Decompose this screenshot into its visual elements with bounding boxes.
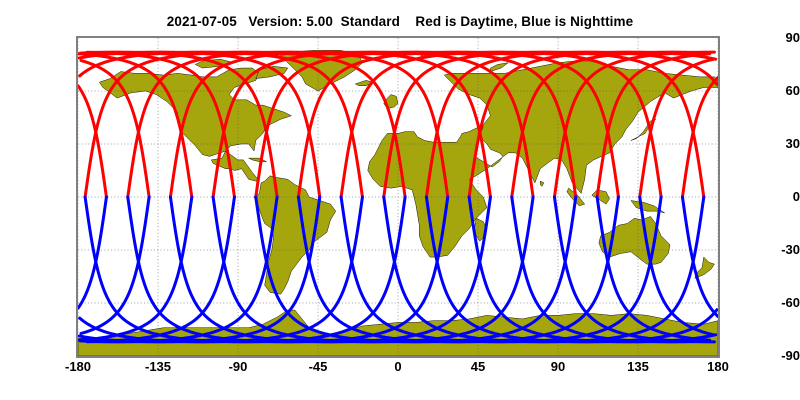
nighttime-track [85,197,405,342]
land-polygon [99,68,291,181]
page-title: 2021-07-05 Version: 5.00 Standard Red is… [0,14,800,29]
land-polygon [249,158,267,162]
x-tick-label: -45 [283,360,353,374]
land-polygon [490,63,508,72]
y-tick-label: -90 [732,349,800,363]
y-tick-label: 0 [732,190,800,204]
x-tick-label: 135 [603,360,673,374]
x-tick-label: 180 [683,360,753,374]
y-tick-label: 30 [732,137,800,151]
y-tick-label: -60 [732,296,800,310]
land-polygon [540,181,544,186]
y-tick-label: 90 [732,31,800,45]
land-polygon [254,176,336,294]
x-tick-label: -180 [43,360,113,374]
x-tick-label: 90 [523,360,593,374]
x-tick-label: 45 [443,360,513,374]
plot-area [76,36,720,358]
plot-canvas [78,38,718,356]
x-tick-label: -135 [123,360,193,374]
y-tick-label: 60 [732,84,800,98]
y-tick-label: -30 [732,243,800,257]
x-tick-label: -90 [203,360,273,374]
x-tick-label: 0 [363,360,433,374]
satellite-ground-track-plot: 2021-07-05 Version: 5.00 Standard Red is… [0,0,800,400]
